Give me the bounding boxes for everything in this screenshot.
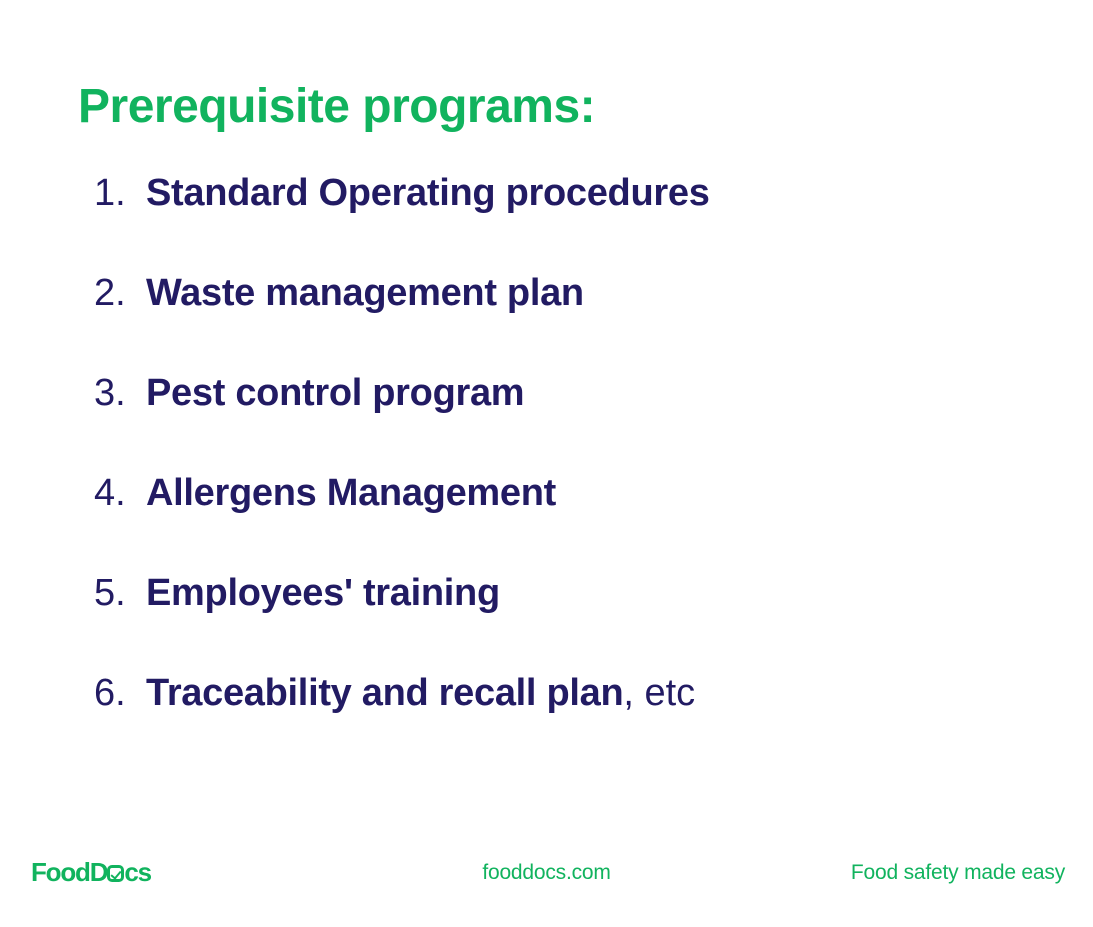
list-item-number: 2. [94, 272, 146, 315]
list-item-label: Pest control program [146, 372, 524, 415]
footer-tagline: Food safety made easy [851, 861, 1065, 885]
list-item-label: Allergens Management [146, 472, 556, 515]
list-item: 3. Pest control program [94, 372, 1024, 472]
page-title: Prerequisite programs: [78, 78, 595, 136]
prerequisite-program-list: 1. Standard Operating procedures 2. Wast… [94, 172, 1024, 772]
list-item-number: 1. [94, 172, 146, 215]
list-item: 6. Traceability and recall plan , etc [94, 672, 1024, 772]
list-item: 4. Allergens Management [94, 472, 1024, 572]
slide-canvas: Prerequisite programs: 1. Standard Opera… [0, 0, 1093, 927]
list-item-number: 3. [94, 372, 146, 415]
slide-footer: FoodD cs fooddocs.com Food safety made e… [0, 837, 1093, 927]
list-item-label: Traceability and recall plan [146, 672, 623, 715]
list-item: 5. Employees' training [94, 572, 1024, 672]
list-item-label: Employees' training [146, 572, 500, 615]
list-item: 2. Waste management plan [94, 272, 1024, 372]
list-item-number: 6. [94, 672, 146, 715]
list-item-suffix: , etc [623, 672, 695, 715]
list-item-number: 4. [94, 472, 146, 515]
list-item-label: Standard Operating procedures [146, 172, 710, 215]
list-item-label: Waste management plan [146, 272, 584, 315]
list-item-number: 5. [94, 572, 146, 615]
list-item: 1. Standard Operating procedures [94, 172, 1024, 272]
